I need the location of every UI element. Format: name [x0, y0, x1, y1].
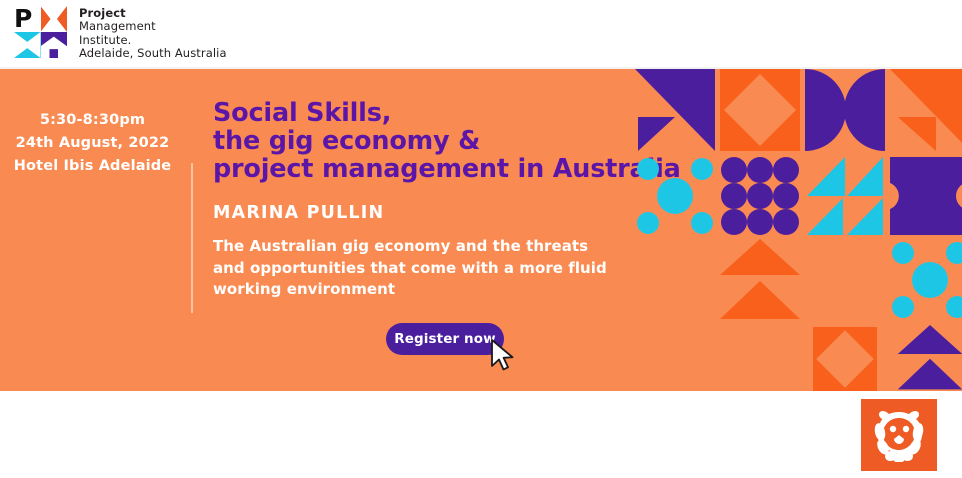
headline-line-3: project management in Australia [213, 155, 681, 183]
pattern-tile-cyan-circle-cluster-2 [890, 239, 962, 321]
event-headline: Social Skills, the gig economy & project… [213, 99, 681, 183]
pattern-tile-purple-triangles [635, 69, 715, 151]
pattern-tile-cyan-circle-cluster [635, 157, 715, 235]
pattern-tile-purple-circle-grid [720, 157, 800, 235]
headline-line-1: Social Skills, [213, 99, 681, 127]
bowtie-vertical-shape [14, 32, 41, 58]
speaker-name: MARINA PULLIN [213, 203, 384, 223]
org-line-1: Project [79, 7, 227, 20]
org-line-3: Institute. [79, 34, 227, 47]
org-line-2: Management [79, 20, 227, 33]
house-shape [41, 32, 68, 58]
logo-house-icon [41, 32, 68, 58]
pattern-tile-orange-stacked-triangles [720, 239, 800, 321]
logo-butterfly-icon [41, 6, 68, 32]
register-now-button[interactable]: Register now [386, 323, 504, 355]
page-header: P Project Management Institute. Adelaide… [0, 0, 962, 69]
pattern-tile-cyan-pinwheel-triangles [805, 157, 885, 235]
bowtie-horizontal-shape [41, 6, 68, 32]
event-description: The Australian gig economy and the threa… [213, 236, 623, 301]
event-time: 5:30-8:30pm [0, 109, 185, 132]
geometric-pattern [632, 69, 962, 391]
pmi-logo-icon: P [14, 6, 67, 58]
org-line-4: Adelaide, South Australia [79, 47, 227, 60]
pattern-tile-orange-corner-triangles [890, 69, 962, 151]
headline-line-2: the gig economy & [213, 127, 681, 155]
pattern-tile-purple-stacked-triangles [890, 325, 962, 391]
event-venue: Hotel Ibis Adelaide [0, 155, 185, 178]
logo-hourglass-icon [14, 32, 41, 58]
pattern-tile-orange-square-diamond-2 [805, 327, 885, 391]
pattern-tile-purple-notched-rect [890, 157, 962, 235]
logo-letter-p: P [14, 6, 41, 32]
lion-badge[interactable] [861, 399, 937, 471]
pattern-tile-orange-square-diamond [720, 69, 800, 151]
pattern-tile-purple-half-circles [805, 69, 885, 151]
org-name-block: Project Management Institute. Adelaide, … [79, 7, 227, 60]
pmi-logo[interactable]: P Project Management Institute. Adelaide… [14, 6, 227, 60]
event-details: 5:30-8:30pm 24th August, 2022 Hotel Ibis… [0, 109, 185, 178]
vertical-divider [191, 163, 193, 313]
lion-head-icon [871, 408, 927, 462]
event-banner: 5:30-8:30pm 24th August, 2022 Hotel Ibis… [0, 69, 962, 391]
event-date: 24th August, 2022 [0, 132, 185, 155]
